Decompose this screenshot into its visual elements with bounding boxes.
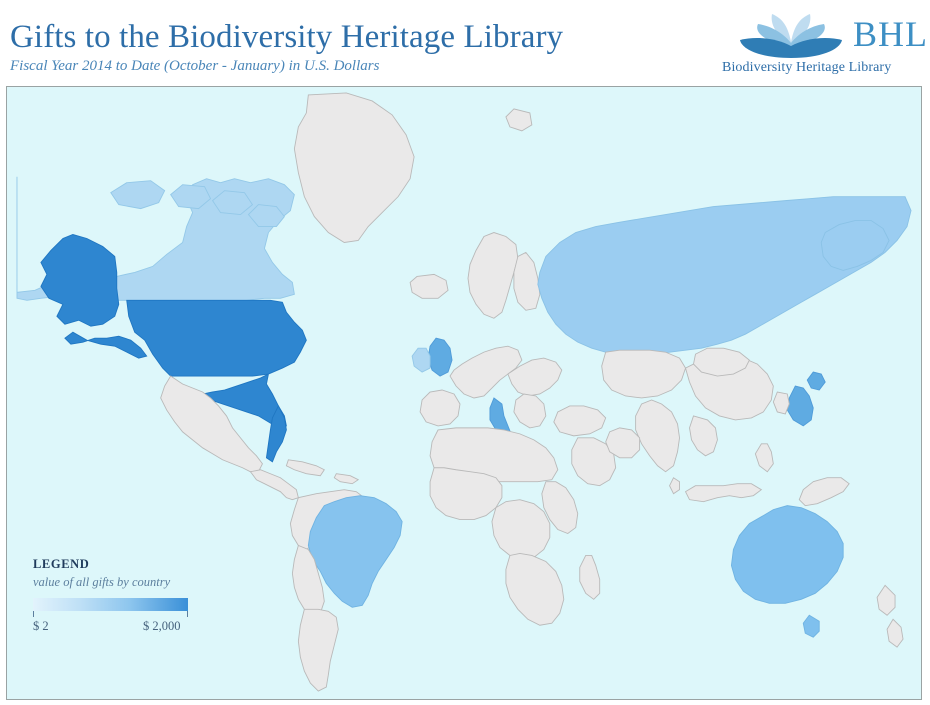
title-block: Gifts to the Biodiversity Heritage Libra… [10,18,563,75]
legend-tick-min [33,611,34,617]
open-book-icon [736,12,846,60]
page-subtitle: Fiscal Year 2014 to Date (October - Janu… [10,57,563,75]
legend-ticks [33,611,188,618]
region-iberia [420,390,460,426]
legend-labels: $ 2 $ 2,000 [33,619,198,635]
legend-min-label: $ 2 [33,619,49,634]
bhl-wordmark: BHL [853,13,928,55]
bhl-tagline: Biodiversity Heritage Library [722,60,891,76]
legend-title: LEGEND [33,557,208,572]
legend-gradient-bar [33,598,188,611]
bhl-logo: BHL Biodiversity Heritage Library [716,10,916,78]
legend-max-label: $ 2,000 [143,619,181,634]
world-choropleth-map[interactable]: .nd{fill:#eae9e9;stroke:#b9b9b9;stroke-w… [6,86,922,700]
page-header: Gifts to the Biodiversity Heritage Libra… [0,0,930,86]
legend: LEGEND value of all gifts by country $ 2… [33,557,208,635]
legend-tick-max [187,611,188,617]
page-title: Gifts to the Biodiversity Heritage Libra… [10,18,563,56]
legend-subtitle: value of all gifts by country [33,575,208,590]
